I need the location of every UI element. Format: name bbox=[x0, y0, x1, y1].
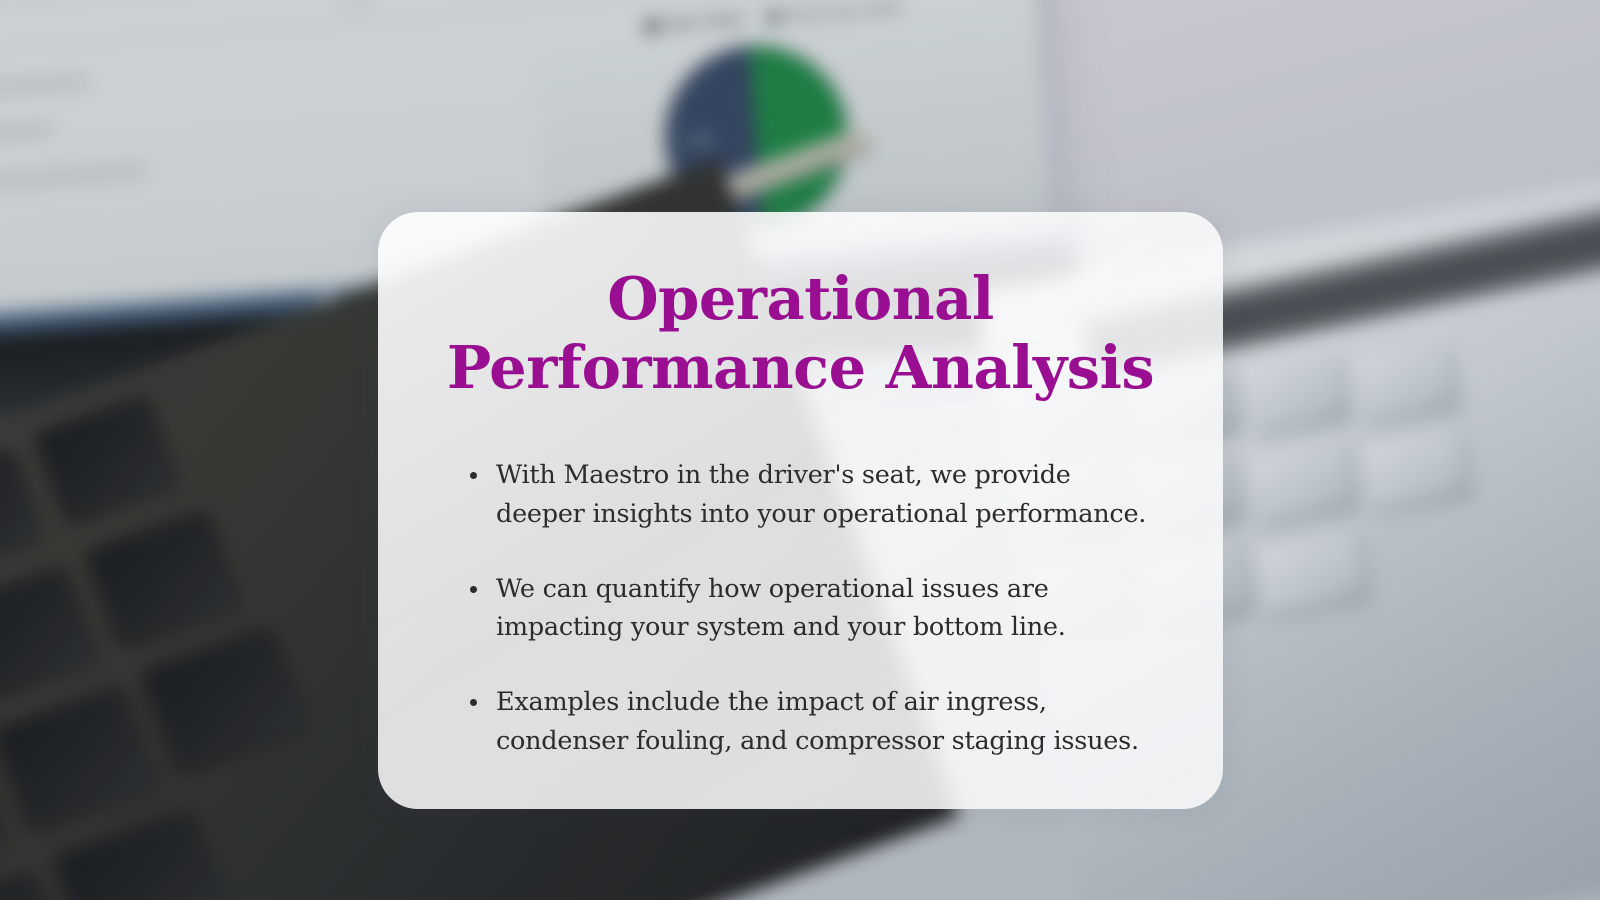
page-title-line-1: Operational bbox=[607, 264, 994, 333]
list-item-text: Examples include the impact of air ingre… bbox=[496, 687, 1139, 756]
bullet-list: With Maestro in the driver's seat, we pr… bbox=[434, 456, 1167, 761]
page-title-line-2: Performance Analysis bbox=[447, 333, 1154, 402]
bullet-dot-icon bbox=[470, 699, 477, 706]
bullet-dot-icon bbox=[470, 586, 477, 593]
content-card: Operational Performance Analysis With Ma… bbox=[378, 212, 1223, 809]
list-item: Examples include the impact of air ingre… bbox=[464, 683, 1154, 761]
list-item-text: We can quantify how operational issues a… bbox=[496, 574, 1066, 643]
list-item: We can quantify how operational issues a… bbox=[464, 570, 1154, 648]
list-item-text: With Maestro in the driver's seat, we pr… bbox=[496, 460, 1146, 529]
slide: 26 jun 18 jun New Visitor Returning Visi… bbox=[0, 0, 1600, 900]
list-item: With Maestro in the driver's seat, we pr… bbox=[464, 456, 1154, 534]
page-title: Operational Performance Analysis bbox=[434, 264, 1167, 402]
bullet-dot-icon bbox=[470, 472, 477, 479]
